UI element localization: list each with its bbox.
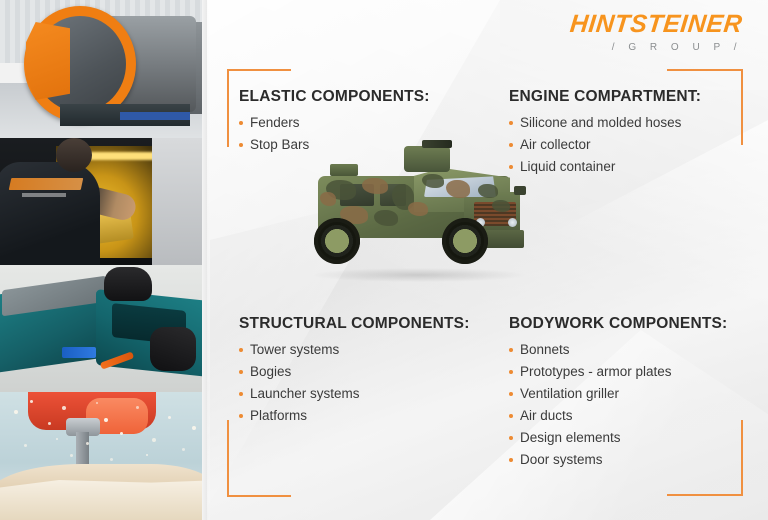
foam-chip [192, 426, 196, 430]
camo-patch [478, 184, 498, 198]
list-item: Ventilation griller [509, 386, 761, 402]
block-title: BODYWORK COMPONENTS: [509, 315, 761, 333]
block-structural: STRUCTURAL COMPONENTS: Tower systemsBogi… [239, 315, 489, 430]
list-item-label: Bonnets [520, 342, 570, 357]
block-list: Tower systemsBogiesLauncher systemsPlatf… [239, 342, 489, 424]
camo-patch [362, 178, 388, 194]
list-item: Bogies [239, 364, 489, 380]
photo-strip [0, 0, 202, 520]
block-list: FendersStop Bars [239, 115, 489, 153]
foam-chip [152, 438, 156, 442]
list-item-label: Fenders [250, 115, 300, 130]
list-item: Stop Bars [239, 137, 489, 153]
bullet-icon [239, 370, 243, 374]
corner-bracket-bottom-left [227, 420, 291, 497]
list-item-label: Prototypes - armor plates [520, 364, 672, 379]
bullet-icon [239, 143, 243, 147]
list-item-label: Door systems [520, 452, 603, 467]
list-item: Air ducts [509, 408, 761, 424]
list-item: Tower systems [239, 342, 489, 358]
list-item: Bonnets [509, 342, 761, 358]
foam-chip [70, 454, 73, 457]
foam-chip [56, 438, 58, 440]
list-item-label: Silicone and molded hoses [520, 115, 681, 130]
block-engine: ENGINE COMPARTMENT: Silicone and molded … [509, 88, 759, 181]
block-title: ELASTIC COMPONENTS: [239, 88, 489, 106]
list-item: Prototypes - armor plates [509, 364, 761, 380]
company-logo: HINTSTEINER / G R O U P / [570, 12, 742, 53]
molds-photo [0, 265, 202, 392]
foam-chip [62, 406, 66, 410]
bullet-icon [509, 348, 513, 352]
block-title: ENGINE COMPARTMENT: [509, 88, 759, 106]
foam-chip [24, 444, 27, 447]
list-item-label: Tower systems [250, 342, 339, 357]
block-bodywork: BODYWORK COMPONENTS: BonnetsPrototypes -… [509, 315, 761, 474]
block-title: STRUCTURAL COMPONENTS: [239, 315, 489, 333]
block-list: BonnetsPrototypes - armor platesVentilat… [509, 342, 761, 468]
list-item-label: Stop Bars [250, 137, 309, 152]
foam-chip [120, 432, 123, 435]
camo-patch [374, 210, 398, 226]
foam-chip [182, 448, 185, 451]
bullet-icon [509, 436, 513, 440]
camo-patch [492, 200, 510, 212]
list-item: Door systems [509, 452, 761, 468]
list-item-label: Air ducts [520, 408, 573, 423]
block-list: Silicone and molded hosesAir collectorLi… [509, 115, 759, 175]
bullet-icon [509, 414, 513, 418]
list-item: Launcher systems [239, 386, 489, 402]
cnc-photo [0, 392, 202, 520]
camo-patch [446, 180, 470, 198]
foam-chip [96, 402, 98, 404]
list-item-label: Design elements [520, 430, 621, 445]
list-item: Design elements [509, 430, 761, 446]
camo-patch [320, 192, 336, 206]
foam-chip [104, 418, 108, 422]
list-item: Liquid container [509, 159, 759, 175]
foam-chip [48, 422, 51, 425]
logo-tagline: / G R O U P / [570, 42, 742, 53]
bullet-icon [509, 165, 513, 169]
armored-vehicle-image [296, 140, 532, 300]
bullet-icon [239, 414, 243, 418]
list-item: Platforms [239, 408, 489, 424]
bullet-icon [239, 392, 243, 396]
foam-chip [168, 416, 171, 419]
foam-chip [110, 458, 113, 461]
foam-chip [146, 454, 148, 456]
bullet-icon [239, 348, 243, 352]
slide-canvas: HINTSTEINER / G R O U P / ELASTIC COMPON… [0, 0, 768, 520]
autoclave-photo [0, 0, 202, 138]
list-item: Air collector [509, 137, 759, 153]
bullet-icon [509, 458, 513, 462]
bullet-icon [509, 121, 513, 125]
foam-chip [30, 400, 33, 403]
list-item: Silicone and molded hoses [509, 115, 759, 131]
bullet-icon [509, 143, 513, 147]
foam-chip [86, 442, 89, 445]
photo-strip-edge [202, 0, 207, 520]
list-item-label: Launcher systems [250, 386, 360, 401]
list-item-label: Liquid container [520, 159, 615, 174]
bullet-icon [509, 370, 513, 374]
worker-photo [0, 138, 202, 265]
logo-wordmark: HINTSTEINER [568, 12, 743, 37]
foam-chip [136, 406, 139, 409]
bullet-icon [239, 121, 243, 125]
list-item: Fenders [239, 115, 489, 131]
bullet-icon [509, 392, 513, 396]
list-item-label: Ventilation griller [520, 386, 619, 401]
foam-chip [14, 410, 18, 414]
list-item-label: Air collector [520, 137, 591, 152]
camo-patch [408, 202, 428, 216]
camo-patch [422, 174, 444, 188]
list-item-label: Bogies [250, 364, 291, 379]
block-elastic: ELASTIC COMPONENTS: FendersStop Bars [239, 88, 489, 159]
list-item-label: Platforms [250, 408, 307, 423]
